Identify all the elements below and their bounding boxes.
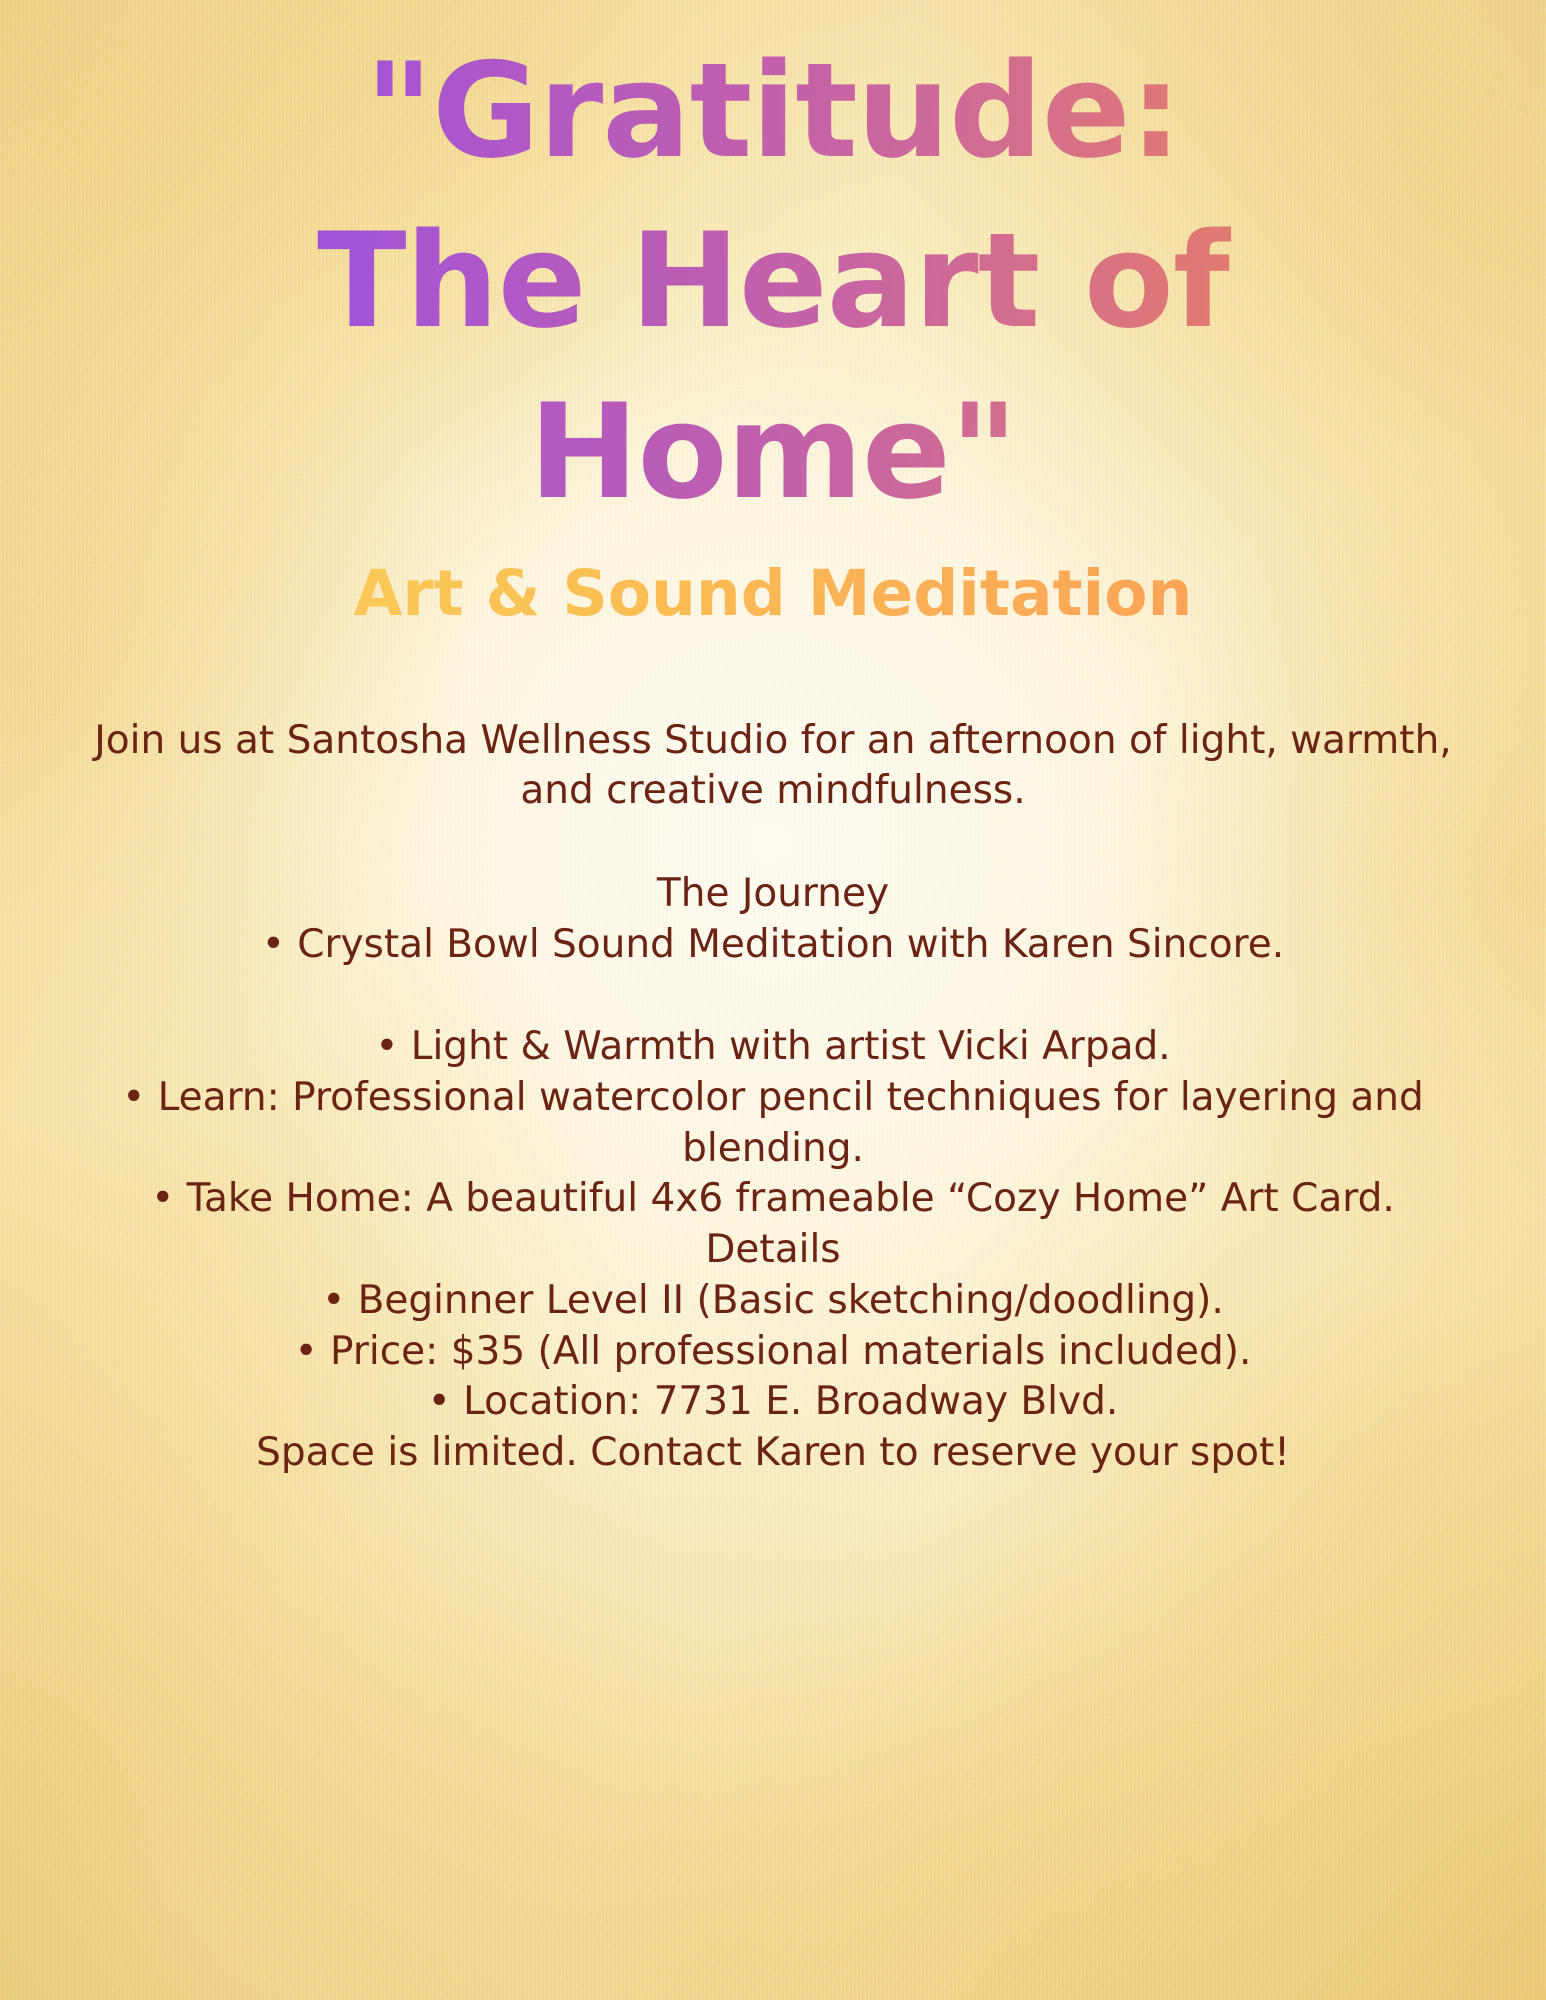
details-item-1: • Beginner Level II (Basic sketching/doo… (52, 1276, 1494, 1327)
details-heading: Details (52, 1225, 1494, 1276)
closing-line: Space is limited. Contact Karen to reser… (52, 1428, 1494, 1479)
journey-item-4: • Take Home: A beautiful 4x6 frameable “… (52, 1174, 1494, 1225)
poster-content: "Gratitude: The Heart of Home" Art & Sou… (0, 0, 1546, 2000)
poster-subtitle: Art & Sound Meditation (40, 555, 1506, 634)
details-item-2: • Price: $35 (All professional materials… (52, 1327, 1494, 1378)
intro-paragraph: Join us at Santosha Wellness Studio for … (52, 716, 1494, 817)
title-line-3: Home" (40, 367, 1506, 537)
body-spacer-2 (52, 970, 1494, 1022)
poster-canvas: "Gratitude: The Heart of Home" Art & Sou… (0, 0, 1546, 2000)
title-line-2: The Heart of (40, 196, 1506, 366)
poster-body: Join us at Santosha Wellness Studio for … (40, 716, 1506, 1479)
journey-item-2: • Light & Warmth with artist Vicki Arpad… (52, 1022, 1494, 1073)
journey-item-3: • Learn: Professional watercolor pencil … (52, 1073, 1494, 1174)
title-line-1: "Gratitude: (40, 26, 1506, 196)
journey-item-1: • Crystal Bowl Sound Meditation with Kar… (52, 920, 1494, 971)
poster-title: "Gratitude: The Heart of Home" (40, 0, 1506, 537)
body-spacer-1 (52, 817, 1494, 869)
journey-heading: The Journey (52, 869, 1494, 920)
details-item-3: • Location: 7731 E. Broadway Blvd. (52, 1377, 1494, 1428)
